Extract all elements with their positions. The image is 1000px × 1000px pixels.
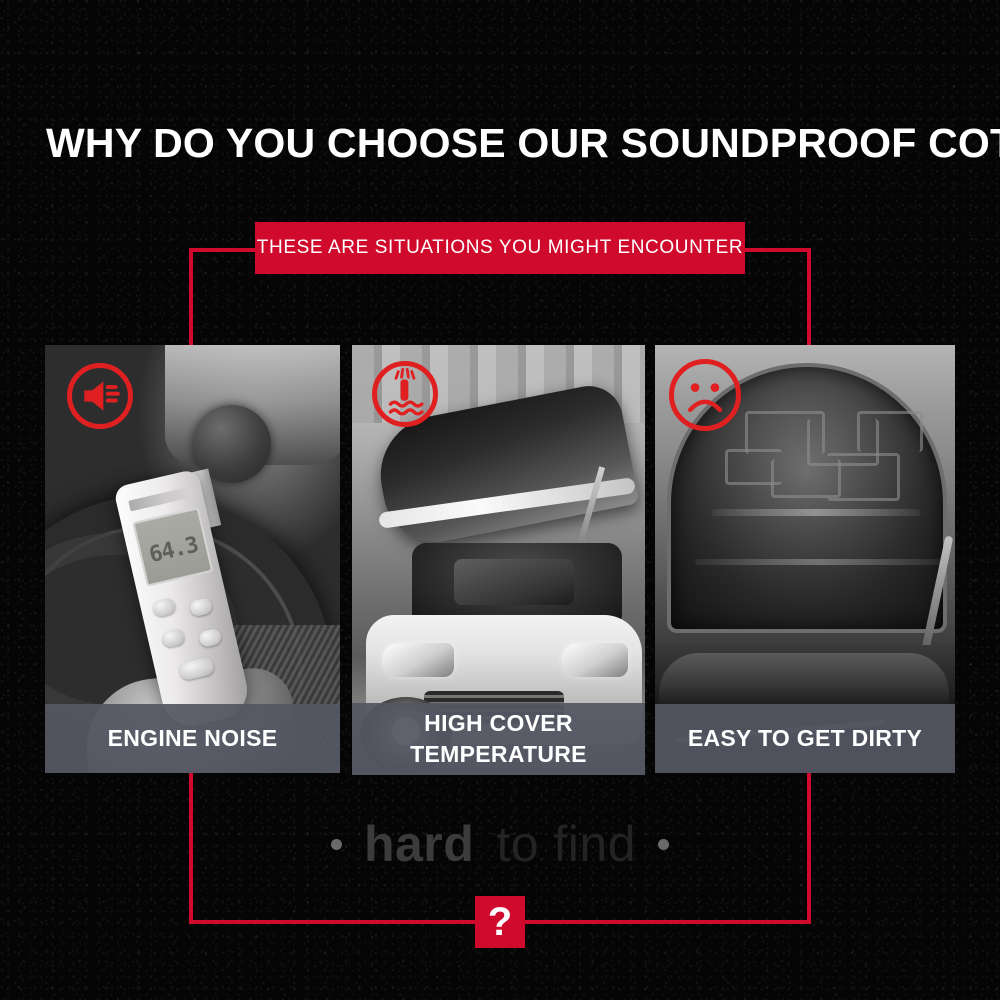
speaker-loud-icon [67, 363, 133, 429]
situations-banner: THESE ARE SITUATIONS YOU MIGHT ENCOUNTER [255, 222, 745, 274]
coolant-temperature-warning-icon [372, 361, 438, 427]
engine-cover-shape [454, 559, 574, 605]
bullet-dot-left [331, 839, 342, 850]
windshield-shape [659, 653, 949, 705]
hood-brace-bar-2 [695, 559, 941, 565]
headlight-left-shape [382, 643, 454, 677]
meter-reading-value: 64.3 [140, 531, 208, 570]
headlight-right-shape [562, 643, 628, 677]
card-caption-easy-to-get-dirty: EASY TO GET DIRTY [655, 704, 955, 773]
meter-button-5 [178, 656, 215, 681]
situation-card-high-cover-temperature[interactable]: HIGH COVER TEMPERATURE [352, 345, 645, 775]
meter-brand-strip [128, 486, 193, 511]
hood-rib-5 [827, 453, 900, 501]
meter-button-4 [198, 628, 223, 649]
situation-card-easy-to-get-dirty[interactable]: EASY TO GET DIRTY [655, 345, 955, 773]
card-caption-text: ENGINE NOISE [108, 723, 278, 754]
situations-banner-label: THESE ARE SITUATIONS YOU MIGHT ENCOUNTER [257, 237, 743, 259]
question-mark-badge: ? [475, 896, 525, 948]
hood-rib-6 [725, 449, 782, 485]
hood-rib-3 [857, 411, 923, 452]
card-caption-text: HIGH COVER TEMPERATURE [352, 708, 645, 770]
situation-card-engine-noise[interactable]: 64.3 ENGINE NOISE [45, 345, 340, 773]
bullet-dot-right [658, 839, 669, 850]
card-caption-high-cover-temperature: HIGH COVER TEMPERATURE [352, 703, 645, 775]
card-caption-engine-noise: ENGINE NOISE [45, 704, 340, 773]
tagline-word-to-find: to find [496, 815, 636, 873]
tagline-word-hard: hard [364, 815, 474, 873]
connector-line-top-left [189, 248, 259, 252]
meter-button-2 [189, 597, 214, 618]
sad-face-icon [669, 359, 741, 431]
hood-brace-bar-1 [711, 509, 921, 516]
infographic-canvas: WHY DO YOU CHOOSE OUR SOUNDPROOF COTTON … [0, 0, 1000, 1000]
meter-lcd-screen: 64.3 [132, 507, 213, 587]
card-caption-text: EASY TO GET DIRTY [688, 723, 922, 754]
page-title: WHY DO YOU CHOOSE OUR SOUNDPROOF COTTON [46, 120, 966, 166]
connector-line-top-right [741, 248, 811, 252]
tagline-row: hard to find [189, 812, 811, 876]
meter-button-3 [161, 628, 186, 649]
meter-button-1 [152, 597, 177, 618]
